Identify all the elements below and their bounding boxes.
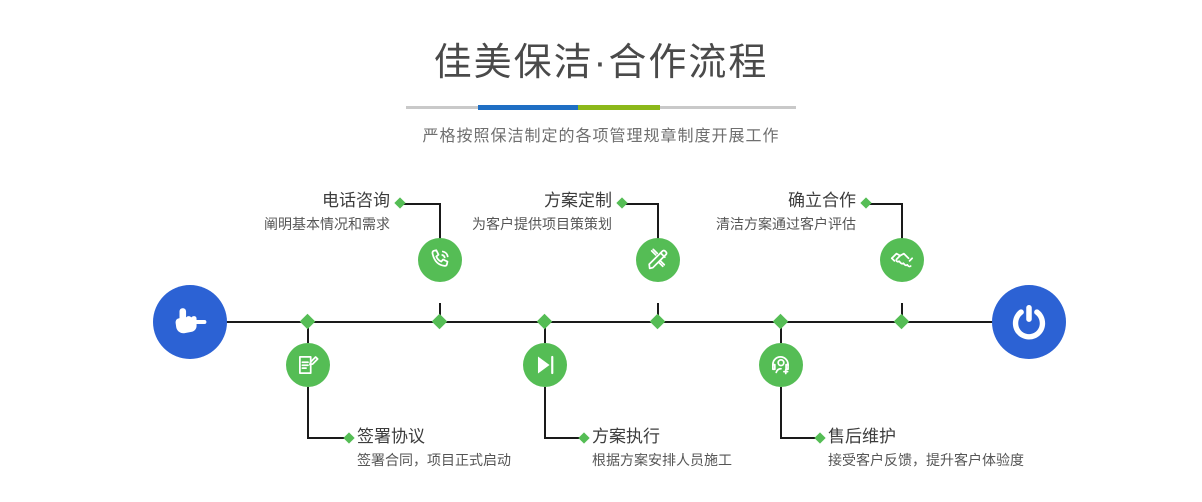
label-step-6: 售后维护 接受客户反馈，提升客户体验度 bbox=[828, 426, 1088, 469]
phone-call-icon bbox=[427, 247, 453, 273]
axis-marker-step-4 bbox=[537, 314, 553, 330]
handshake-icon bbox=[889, 247, 915, 273]
flow-end-node[interactable] bbox=[992, 285, 1066, 359]
label-step-3-desc: 为客户提供项目策策划 bbox=[400, 215, 612, 233]
node-icon-step-4[interactable] bbox=[523, 343, 567, 387]
node-icon-step-6[interactable] bbox=[759, 343, 803, 387]
flow-start-node[interactable] bbox=[153, 285, 227, 359]
play-next-icon bbox=[532, 352, 558, 378]
label-step-2-desc: 签署合同，项目正式启动 bbox=[357, 451, 587, 469]
document-edit-icon bbox=[295, 352, 321, 378]
connector-h-step-5 bbox=[866, 203, 903, 205]
label-step-3: 方案定制 为客户提供项目策策划 bbox=[400, 190, 612, 233]
label-step-6-name: 售后维护 bbox=[828, 426, 1088, 447]
label-step-3-name: 方案定制 bbox=[400, 190, 612, 211]
pencil-ruler-icon bbox=[645, 247, 671, 273]
label-step-5-name: 确立合作 bbox=[646, 190, 856, 211]
label-step-5-desc: 清洁方案通过客户评估 bbox=[646, 215, 856, 233]
process-flow: 电话咨询 阐明基本情况和需求 签署协议 签署合同，项目正式启动 bbox=[0, 160, 1202, 502]
label-step-1: 电话咨询 阐明基本情况和需求 bbox=[190, 190, 390, 233]
label-step-1-desc: 阐明基本情况和需求 bbox=[190, 215, 390, 233]
node-icon-step-5[interactable] bbox=[880, 238, 924, 282]
page-subtitle: 严格按照保洁制定的各项管理规章制度开展工作 bbox=[0, 122, 1202, 146]
customer-service-icon bbox=[768, 352, 794, 378]
pointing-hand-icon bbox=[169, 301, 211, 343]
label-marker-step-5 bbox=[860, 197, 871, 208]
label-step-4-name: 方案执行 bbox=[592, 426, 822, 447]
label-step-2-name: 签署协议 bbox=[357, 426, 587, 447]
axis-marker-step-5 bbox=[894, 314, 910, 330]
page-title: 佳美保洁·合作流程 bbox=[0, 44, 1202, 82]
label-step-4-desc: 根据方案安排人员施工 bbox=[592, 451, 822, 469]
axis-marker-step-3 bbox=[650, 314, 666, 330]
title-divider bbox=[406, 106, 796, 109]
label-step-1-name: 电话咨询 bbox=[190, 190, 390, 211]
label-marker-step-2 bbox=[343, 432, 354, 443]
label-step-4: 方案执行 根据方案安排人员施工 bbox=[592, 426, 822, 469]
label-step-2: 签署协议 签署合同，项目正式启动 bbox=[357, 426, 587, 469]
axis-marker-step-6 bbox=[773, 314, 789, 330]
label-step-5: 确立合作 清洁方案通过客户评估 bbox=[646, 190, 856, 233]
axis-marker-step-1 bbox=[432, 314, 448, 330]
connector-v-step-5 bbox=[901, 203, 903, 243]
divider-segment-green bbox=[578, 105, 660, 110]
label-marker-step-3 bbox=[616, 197, 627, 208]
divider-segment-blue bbox=[478, 105, 578, 110]
node-icon-step-3[interactable] bbox=[636, 238, 680, 282]
connector-h-step-2 bbox=[307, 437, 347, 439]
label-step-6-desc: 接受客户反馈，提升客户体验度 bbox=[828, 451, 1088, 469]
cooperation-process-infographic: 佳美保洁·合作流程 严格按照保洁制定的各项管理规章制度开展工作 bbox=[0, 0, 1202, 502]
node-icon-step-2[interactable] bbox=[286, 343, 330, 387]
axis-marker-step-2 bbox=[300, 314, 316, 330]
node-icon-step-1[interactable] bbox=[418, 238, 462, 282]
header: 佳美保洁·合作流程 严格按照保洁制定的各项管理规章制度开展工作 bbox=[0, 0, 1202, 146]
connector-v-step-2 bbox=[307, 387, 309, 439]
power-icon bbox=[1008, 301, 1050, 343]
